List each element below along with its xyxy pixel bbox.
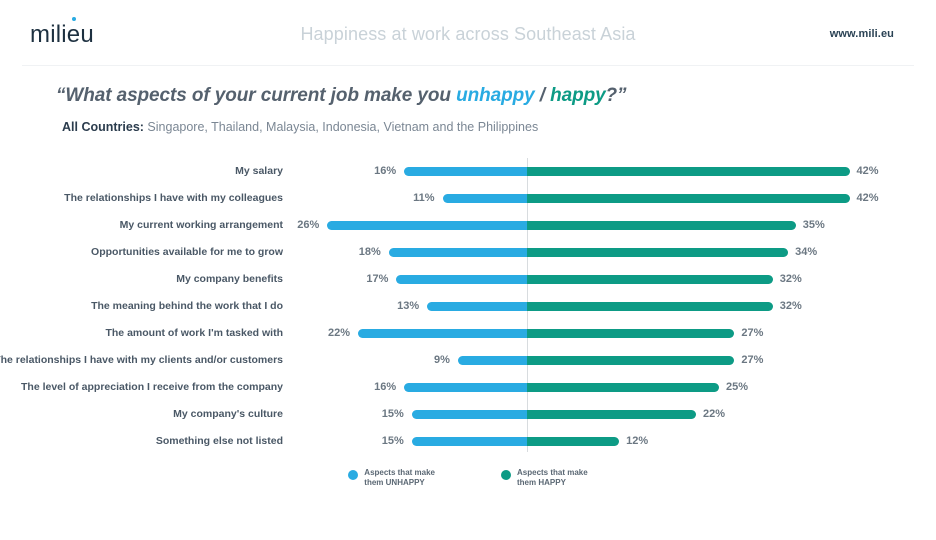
value-label-unhappy: 11%: [377, 185, 435, 212]
bar-unhappy[interactable]: [404, 167, 527, 176]
chart-row: My company benefits17%32%: [0, 266, 936, 293]
header-title: Happiness at work across Southeast Asia: [0, 24, 936, 45]
bar-unhappy[interactable]: [427, 302, 527, 311]
header-divider: [22, 65, 914, 66]
bar-happy[interactable]: [527, 356, 734, 365]
bar-happy[interactable]: [527, 410, 696, 419]
website-url[interactable]: www.mili.eu: [830, 28, 894, 40]
bar-unhappy[interactable]: [443, 194, 527, 203]
bar-happy[interactable]: [527, 302, 773, 311]
bar-unhappy[interactable]: [358, 329, 527, 338]
bar-group: 17%32%: [0, 266, 936, 293]
subtitle-countries: Singapore, Thailand, Malaysia, Indonesia…: [144, 120, 538, 134]
legend-label: Aspects that make them HAPPY: [517, 468, 588, 488]
chart-row: Opportunities available for me to grow18…: [0, 239, 936, 266]
chart-row: Something else not listed15%12%: [0, 428, 936, 455]
bar-unhappy[interactable]: [458, 356, 527, 365]
value-label-unhappy: 18%: [323, 239, 381, 266]
bar-group: 11%42%: [0, 185, 936, 212]
page-header: milieu Happiness at work across Southeas…: [0, 0, 936, 65]
value-label-happy: 32%: [780, 266, 802, 293]
bar-happy[interactable]: [527, 437, 619, 446]
legend-swatch-icon: [348, 470, 358, 480]
bar-happy[interactable]: [527, 248, 788, 257]
value-label-happy: 27%: [741, 347, 763, 374]
bar-group: 26%35%: [0, 212, 936, 239]
subtitle-label: All Countries:: [62, 120, 144, 134]
bar-group: 16%42%: [0, 158, 936, 185]
page-title: “What aspects of your current job make y…: [56, 85, 626, 107]
bar-unhappy[interactable]: [404, 383, 527, 392]
value-label-unhappy: 17%: [330, 266, 388, 293]
value-label-happy: 35%: [803, 212, 825, 239]
bar-happy[interactable]: [527, 194, 850, 203]
legend-swatch-icon: [501, 470, 511, 480]
value-label-unhappy: 13%: [361, 293, 419, 320]
question-separator: /: [535, 85, 551, 106]
chart-row: The relationships I have with my colleag…: [0, 185, 936, 212]
chart-legend: Aspects that make them UNHAPPYAspects th…: [0, 468, 936, 488]
bar-unhappy[interactable]: [389, 248, 527, 257]
value-label-unhappy: 26%: [261, 212, 319, 239]
bar-group: 15%12%: [0, 428, 936, 455]
bar-happy[interactable]: [527, 329, 734, 338]
chart-row: My salary16%42%: [0, 158, 936, 185]
value-label-happy: 32%: [780, 293, 802, 320]
bar-group: 22%27%: [0, 320, 936, 347]
chart-row: My company's culture15%22%: [0, 401, 936, 428]
bar-happy[interactable]: [527, 275, 773, 284]
value-label-happy: 42%: [857, 158, 879, 185]
value-label-unhappy: 15%: [346, 401, 404, 428]
question-word-happy: happy: [550, 85, 605, 106]
bar-unhappy[interactable]: [412, 437, 527, 446]
bar-unhappy[interactable]: [396, 275, 527, 284]
chart-row: The amount of work I'm tasked with22%27%: [0, 320, 936, 347]
bar-group: 13%32%: [0, 293, 936, 320]
bar-group: 16%25%: [0, 374, 936, 401]
value-label-unhappy: 16%: [338, 158, 396, 185]
value-label-unhappy: 22%: [292, 320, 350, 347]
value-label-unhappy: 9%: [392, 347, 450, 374]
chart-row: The level of appreciation I receive from…: [0, 374, 936, 401]
value-label-happy: 34%: [795, 239, 817, 266]
bar-unhappy[interactable]: [327, 221, 527, 230]
value-label-happy: 42%: [857, 185, 879, 212]
value-label-unhappy: 15%: [346, 428, 404, 455]
value-label-unhappy: 16%: [338, 374, 396, 401]
bar-unhappy[interactable]: [412, 410, 527, 419]
question-text-after: ?”: [606, 85, 627, 106]
value-label-happy: 12%: [626, 428, 648, 455]
legend-happy[interactable]: Aspects that make them HAPPY: [501, 468, 588, 488]
question-word-unhappy: unhappy: [456, 85, 534, 106]
bar-happy[interactable]: [527, 221, 796, 230]
bar-happy[interactable]: [527, 383, 719, 392]
subtitle: All Countries: Singapore, Thailand, Mala…: [62, 120, 538, 134]
chart-rows: My salary16%42%The relationships I have …: [0, 158, 936, 455]
legend-label: Aspects that make them UNHAPPY: [364, 468, 435, 488]
diverging-bar-chart: My salary16%42%The relationships I have …: [0, 158, 936, 455]
bar-group: 9%27%: [0, 347, 936, 374]
bar-group: 15%22%: [0, 401, 936, 428]
chart-row: The relationships I have with my clients…: [0, 347, 936, 374]
chart-row: My current working arrangement26%35%: [0, 212, 936, 239]
question-text-before: “What aspects of your current job make y…: [56, 85, 456, 106]
value-label-happy: 25%: [726, 374, 748, 401]
value-label-happy: 27%: [741, 320, 763, 347]
bar-group: 18%34%: [0, 239, 936, 266]
value-label-happy: 22%: [703, 401, 725, 428]
chart-row: The meaning behind the work that I do13%…: [0, 293, 936, 320]
bar-happy[interactable]: [527, 167, 850, 176]
legend-unhappy[interactable]: Aspects that make them UNHAPPY: [348, 468, 435, 488]
